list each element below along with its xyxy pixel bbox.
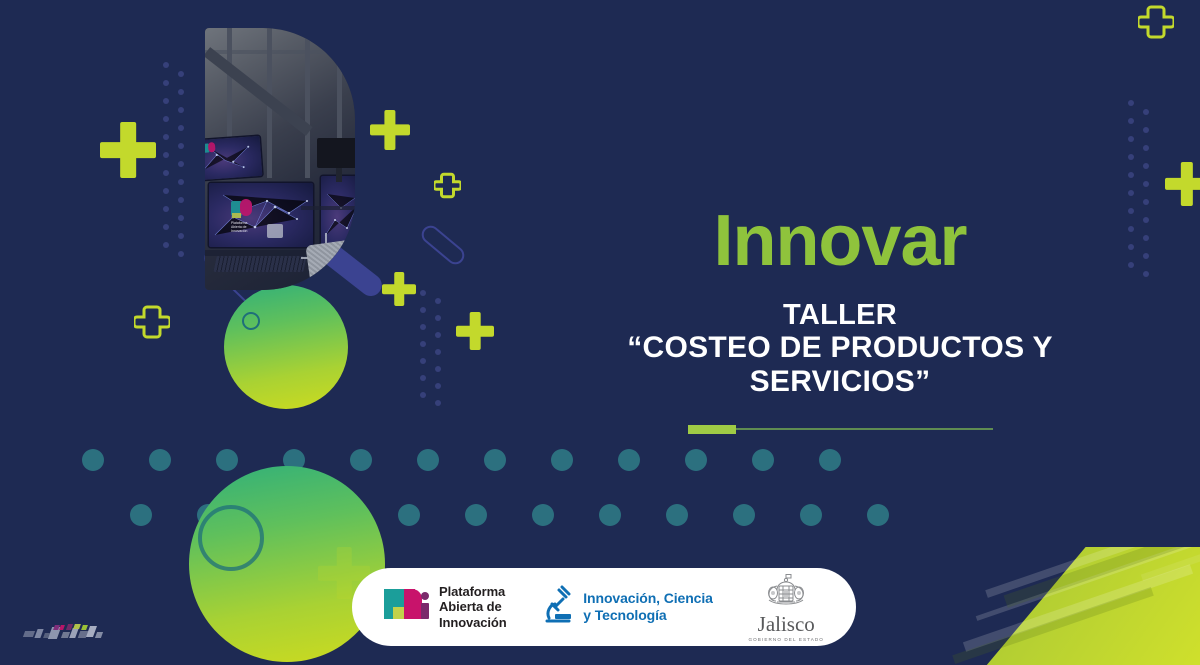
plus-icon: [370, 110, 410, 150]
presentation-slide: Plataforma Abierta de Innovación: [0, 0, 1200, 665]
pixel-artifact: [24, 623, 114, 647]
teal-dot: [733, 504, 755, 526]
jalisco-wordmark: Jalisco: [758, 614, 815, 635]
diagonal-pill-shape: [418, 222, 468, 268]
teal-dot: [666, 504, 688, 526]
teal-dot: [264, 504, 286, 526]
teal-dot: [350, 449, 372, 471]
dot-column-pattern: [1128, 100, 1154, 270]
logo-innovacion-ciencia-tecnologia: Innovación, Ciencia y Tecnología: [542, 585, 713, 630]
teal-dot: [752, 449, 774, 471]
teal-dot: [417, 449, 439, 471]
plus-outline-icon: [134, 304, 170, 340]
jalisco-coat-of-arms-icon: [761, 573, 811, 612]
pai-monogram-icon: [384, 585, 430, 628]
teal-dot: [685, 449, 707, 471]
teal-dot: [149, 449, 171, 471]
corner-wedge-shape: [940, 547, 1200, 665]
pai-line-2: Abierta de: [439, 599, 502, 614]
pai-line-1: Plataforma: [439, 584, 505, 599]
plus-outline-icon: [434, 172, 461, 199]
ict-line-2: y Tecnología: [583, 607, 666, 623]
teal-dot: [484, 449, 506, 471]
teal-dot: [819, 449, 841, 471]
page-title: Innovar: [560, 205, 1120, 277]
plus-icon: [456, 312, 494, 350]
divider-rule: [688, 423, 993, 435]
jalisco-tagline: GOBIERNO DEL ESTADO: [748, 637, 824, 642]
subtitle-line-2: “COSTEO DE PRODUCTOS Y: [560, 331, 1120, 365]
ring-outline-shape: [242, 312, 260, 330]
ict-wordmark: Innovación, Ciencia y Tecnología: [583, 590, 713, 623]
teal-dot: [331, 504, 353, 526]
teal-dot: [197, 504, 219, 526]
logo-jalisco-gobierno-del-estado: Jalisco GOBIERNO DEL ESTADO: [748, 573, 824, 642]
teal-dot: [867, 504, 889, 526]
teal-dot: [82, 449, 104, 471]
microscope-icon: [542, 585, 574, 630]
slide-content: Innovar TALLER “COSTEO DE PRODUCTOS Y SE…: [560, 205, 1120, 435]
teal-dot: [800, 504, 822, 526]
plus-outline-icon: [1138, 4, 1174, 40]
workstations-photo: Plataforma Abierta de Innovación: [205, 28, 355, 290]
teal-dot: [216, 449, 238, 471]
subtitle-line-3: SERVICIOS”: [560, 365, 1120, 399]
teal-dot: [130, 504, 152, 526]
subtitle-line-1: TALLER: [560, 299, 1120, 331]
plus-icon: [100, 122, 156, 178]
plus-icon: [1165, 162, 1200, 206]
logo-plataforma-abierta-de-innovacion: Plataforma Abierta de Innovación: [384, 584, 507, 630]
dot-column-pattern: [420, 290, 446, 410]
subtitle: TALLER “COSTEO DE PRODUCTOS Y SERVICIOS”: [560, 299, 1120, 399]
teal-dot: [283, 449, 305, 471]
logo-bar: Plataforma Abierta de Innovación: [352, 568, 856, 646]
teal-dot: [618, 449, 640, 471]
svg-text:Innovación: Innovación: [231, 229, 248, 233]
teal-dot: [599, 504, 621, 526]
dot-column-pattern: [163, 62, 189, 262]
plus-icon: [382, 272, 416, 306]
teal-dot: [465, 504, 487, 526]
pai-line-3: Innovación: [439, 615, 507, 630]
ict-line-1: Innovación, Ciencia: [583, 590, 713, 606]
teal-dot: [551, 449, 573, 471]
teal-dot: [398, 504, 420, 526]
teal-dot: [532, 504, 554, 526]
pai-wordmark: Plataforma Abierta de Innovación: [439, 584, 507, 630]
gradient-circle-shape: [224, 285, 348, 409]
gradient-circle-shape: [189, 466, 385, 662]
